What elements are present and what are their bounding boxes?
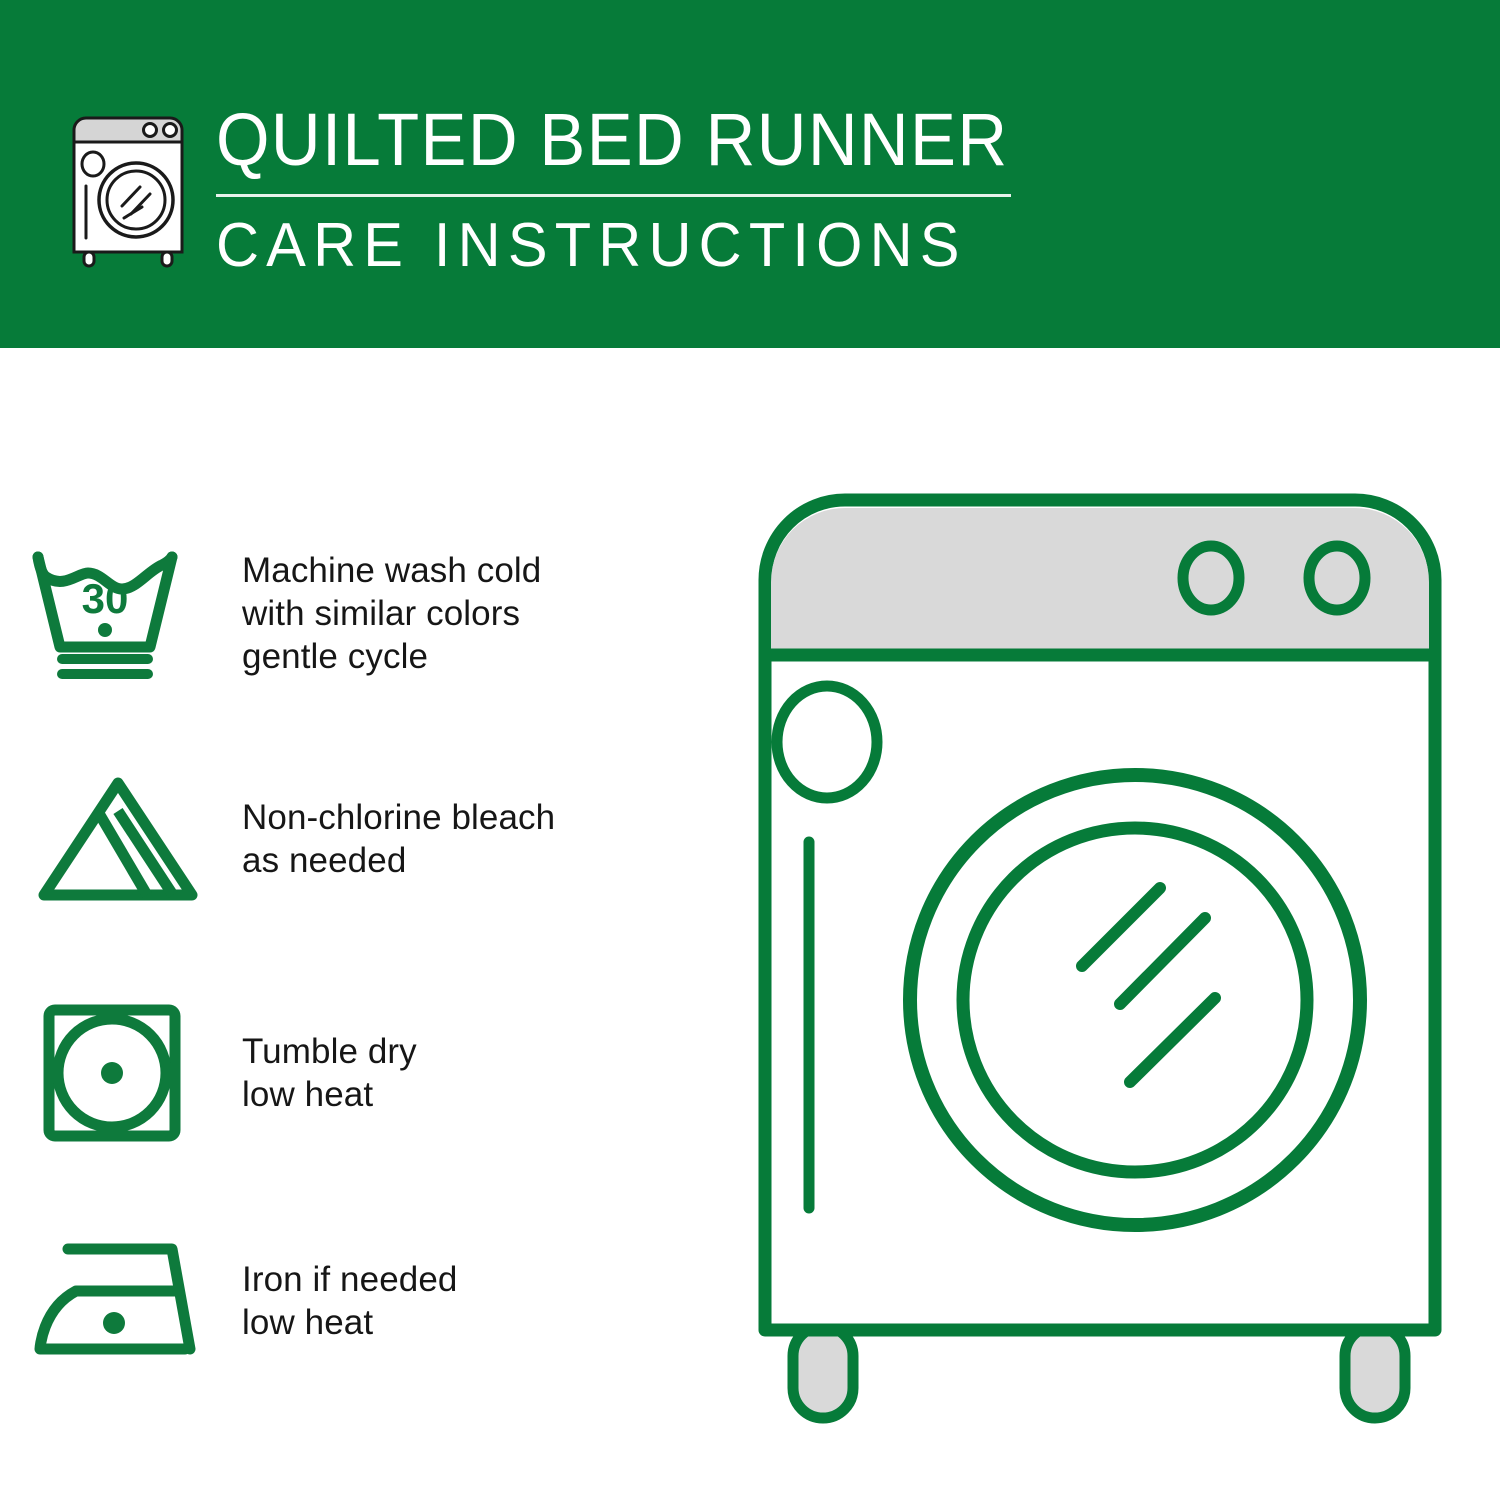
care-text-tumble-dry: Tumble dry low heat bbox=[230, 1030, 417, 1116]
care-instructions-page: QUILTED BED RUNNER CARE INSTRUCTIONS 30 bbox=[0, 0, 1500, 1500]
control-knob-1 bbox=[1183, 546, 1239, 610]
care-text-iron: Iron if needed low heat bbox=[230, 1258, 457, 1344]
care-row-bleach: Non-chlorine bleach as needed bbox=[0, 734, 700, 944]
detergent-dispenser-icon bbox=[777, 686, 877, 798]
page-subtitle: CARE INSTRUCTIONS bbox=[216, 213, 1080, 279]
care-text-line: Tumble dry bbox=[242, 1030, 417, 1073]
care-row-machine-wash: 30 Machine wash cold with similar colors… bbox=[0, 508, 700, 718]
header-text-block: QUILTED BED RUNNER CARE INSTRUCTIONS bbox=[216, 100, 1116, 279]
care-text-line: Machine wash cold bbox=[242, 549, 541, 592]
care-text-bleach: Non-chlorine bleach as needed bbox=[230, 796, 555, 882]
care-text-line: low heat bbox=[242, 1301, 457, 1344]
washing-machine-icon bbox=[62, 108, 200, 268]
non-chlorine-bleach-triangle-symbol bbox=[0, 759, 230, 919]
care-text-line: Non-chlorine bleach bbox=[242, 796, 555, 839]
care-text-line: gentle cycle bbox=[242, 635, 541, 678]
care-row-tumble-dry: Tumble dry low heat bbox=[0, 968, 700, 1178]
care-text-line: Iron if needed bbox=[242, 1258, 457, 1301]
wash-temperature-label: 30 bbox=[82, 575, 129, 622]
title-divider bbox=[216, 194, 1011, 197]
care-row-iron: Iron if needed low heat bbox=[0, 1196, 700, 1406]
iron-low-heat-symbol bbox=[0, 1221, 230, 1381]
care-symbol-list: 30 Machine wash cold with similar colors… bbox=[0, 348, 700, 1500]
care-text-line: low heat bbox=[242, 1073, 417, 1116]
page-title: QUILTED BED RUNNER bbox=[216, 100, 1053, 180]
care-text-line: as needed bbox=[242, 839, 555, 882]
front-load-washing-machine-illustration bbox=[735, 470, 1475, 1430]
washer-door-inner-ring bbox=[963, 828, 1307, 1172]
care-text-machine-wash: Machine wash cold with similar colors ge… bbox=[230, 549, 541, 678]
care-text-line: with similar colors bbox=[242, 592, 541, 635]
washer-legs bbox=[793, 1326, 1405, 1418]
tumble-dry-low-heat-symbol bbox=[0, 993, 230, 1153]
header-banner: QUILTED BED RUNNER CARE INSTRUCTIONS bbox=[0, 0, 1500, 348]
machine-wash-30-gentle-symbol: 30 bbox=[0, 533, 230, 693]
control-knob-2 bbox=[1309, 546, 1365, 610]
